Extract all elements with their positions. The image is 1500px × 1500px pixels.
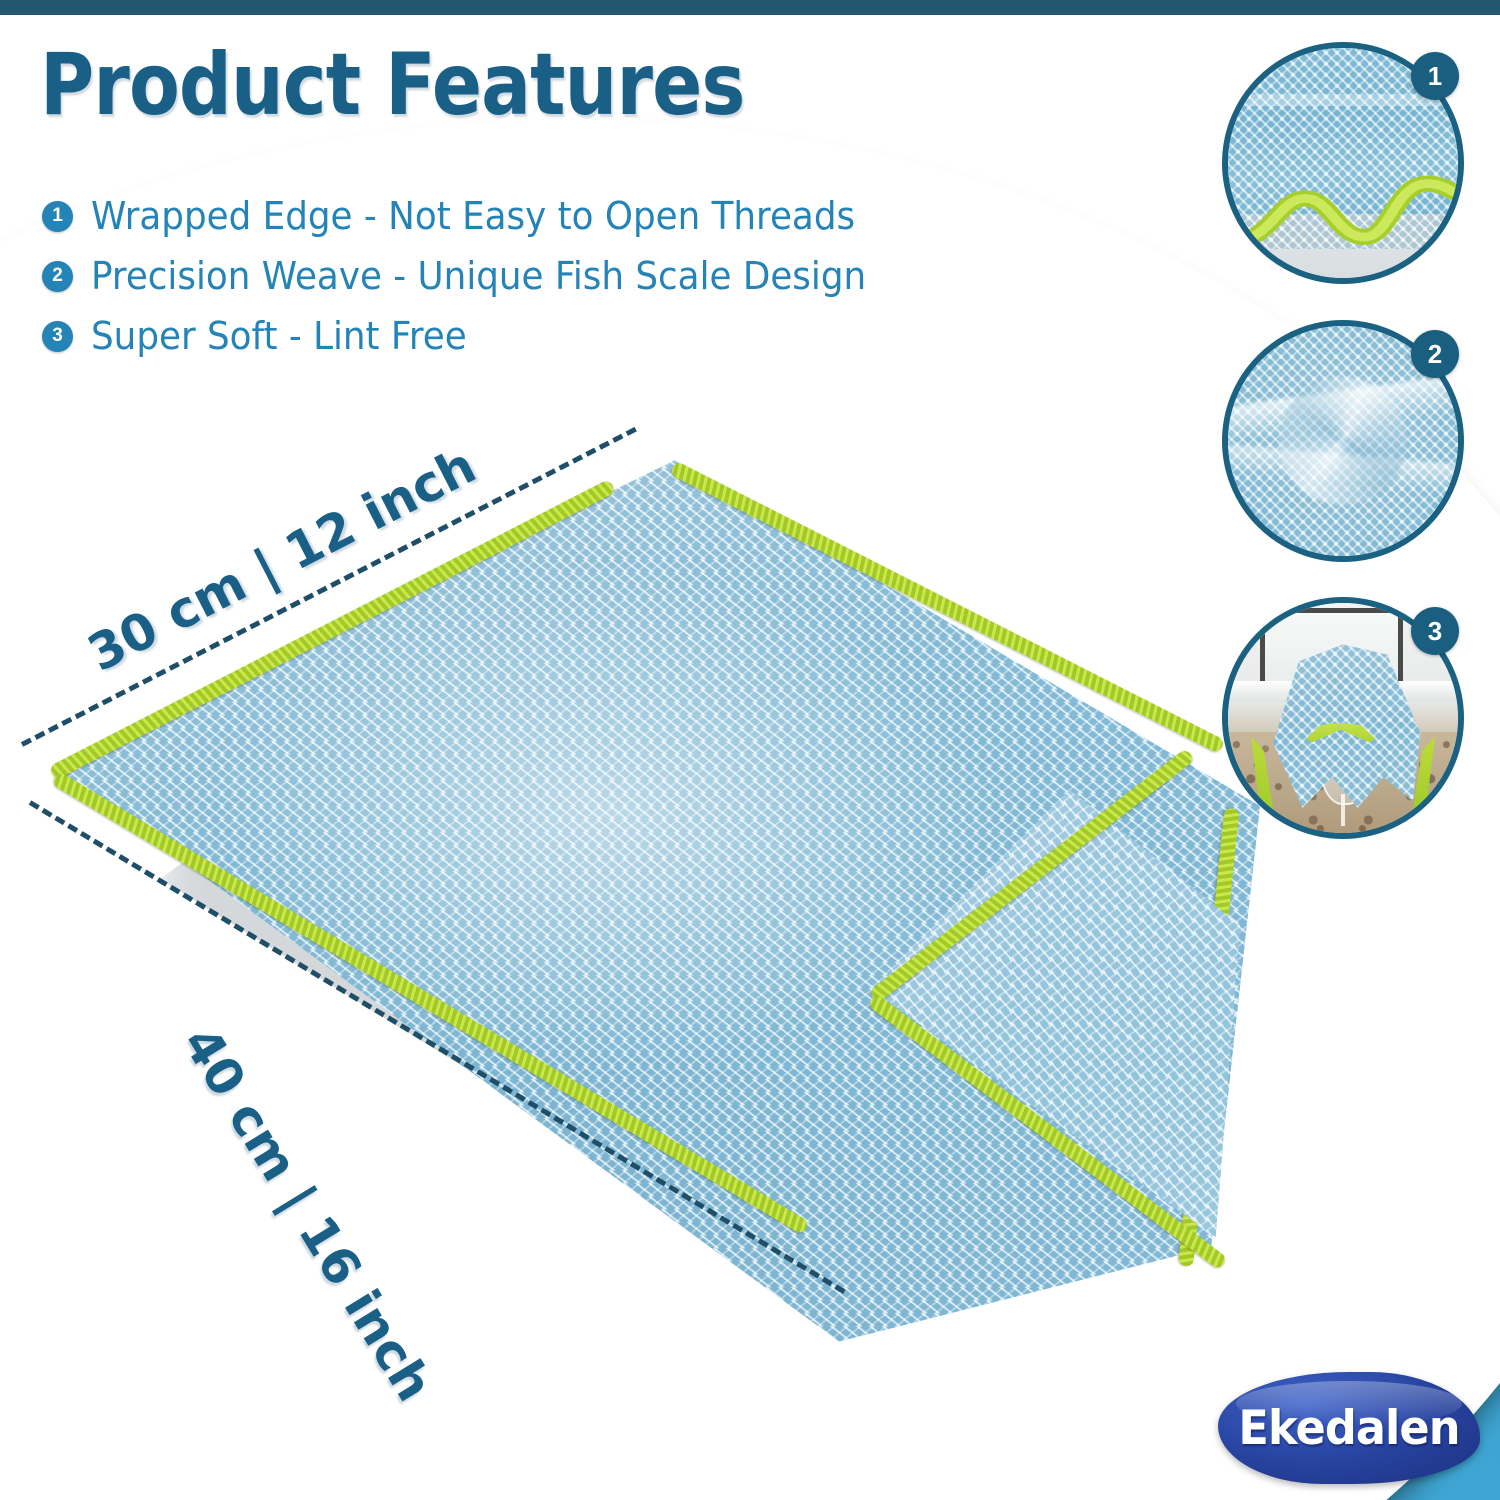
top-accent-bar: [0, 0, 1500, 15]
feature-item-1: 1 Wrapped Edge - Not Easy to Open Thread…: [42, 188, 942, 244]
feature-number-badge-3: 3: [42, 321, 73, 352]
page-title: Product Features: [40, 42, 745, 130]
feature-label-3: Super Soft - Lint Free: [91, 314, 467, 358]
product-feature-infographic: Product Features 1 Wrapped Edge - Not Ea…: [0, 0, 1500, 1500]
brand-logo: Ekedalen: [1218, 1372, 1480, 1484]
photo3-wine-glass-stem: [1341, 794, 1346, 826]
detail-photo-badge-1: 1: [1411, 52, 1459, 100]
photo1-green-wavy-edge-icon: [1246, 163, 1464, 260]
photo2-swirl-center: [1279, 377, 1408, 506]
feature-item-3: 3 Super Soft - Lint Free: [42, 308, 942, 364]
feature-number-badge-1: 1: [42, 201, 73, 232]
detail-photo-badge-3: 3: [1411, 607, 1459, 655]
feature-number-badge-2: 2: [42, 261, 73, 292]
feature-item-2: 2 Precision Weave - Unique Fish Scale De…: [42, 248, 942, 304]
feature-label-1: Wrapped Edge - Not Easy to Open Threads: [91, 194, 855, 238]
feature-label-2: Precision Weave - Unique Fish Scale Desi…: [91, 254, 866, 298]
feature-list: 1 Wrapped Edge - Not Easy to Open Thread…: [42, 188, 942, 368]
detail-photo-badge-2: 2: [1411, 330, 1459, 378]
brand-name: Ekedalen: [1225, 1372, 1474, 1484]
